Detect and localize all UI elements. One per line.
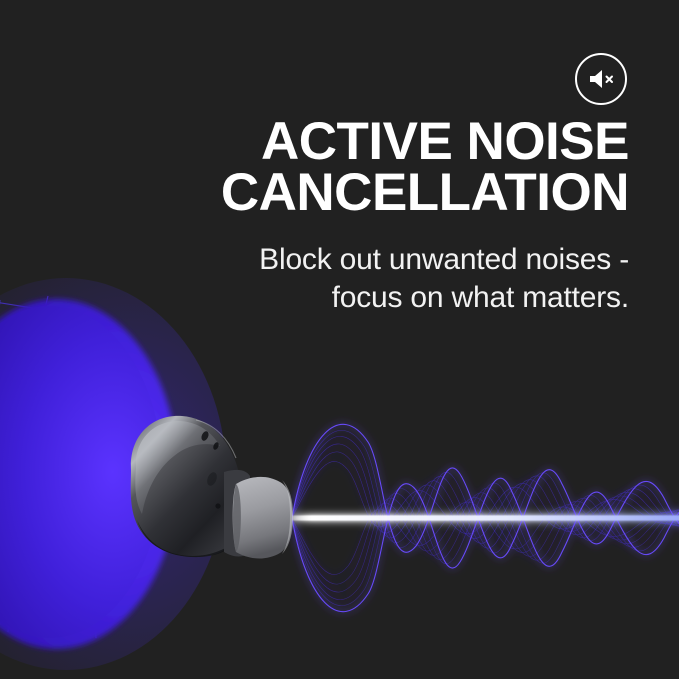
subheadline: Block out unwanted noises - focus on wha… (199, 241, 629, 318)
headline-line-2: CANCELLATION (199, 167, 629, 218)
subheadline-line-1: Block out unwanted noises - (199, 241, 629, 279)
polygon-wireframe-mesh (0, 296, 120, 648)
ad-creative-canvas: ACTIVE NOISE CANCELLATION Block out unwa… (0, 0, 679, 679)
copy-block: ACTIVE NOISE CANCELLATION Block out unwa… (199, 116, 629, 318)
speaker-mute-icon (587, 67, 615, 91)
blue-noise-dome (0, 278, 226, 670)
wireless-earbud (131, 416, 293, 559)
subheadline-line-2: focus on what matters. (199, 279, 629, 317)
audio-waveform (288, 424, 679, 611)
page-title: ACTIVE NOISE CANCELLATION (199, 116, 629, 219)
earbud-mic-slots (200, 430, 221, 508)
headline-line-1: ACTIVE NOISE (199, 116, 629, 167)
speaker-mute-badge[interactable] (575, 53, 627, 105)
artwork-layer (0, 0, 679, 679)
